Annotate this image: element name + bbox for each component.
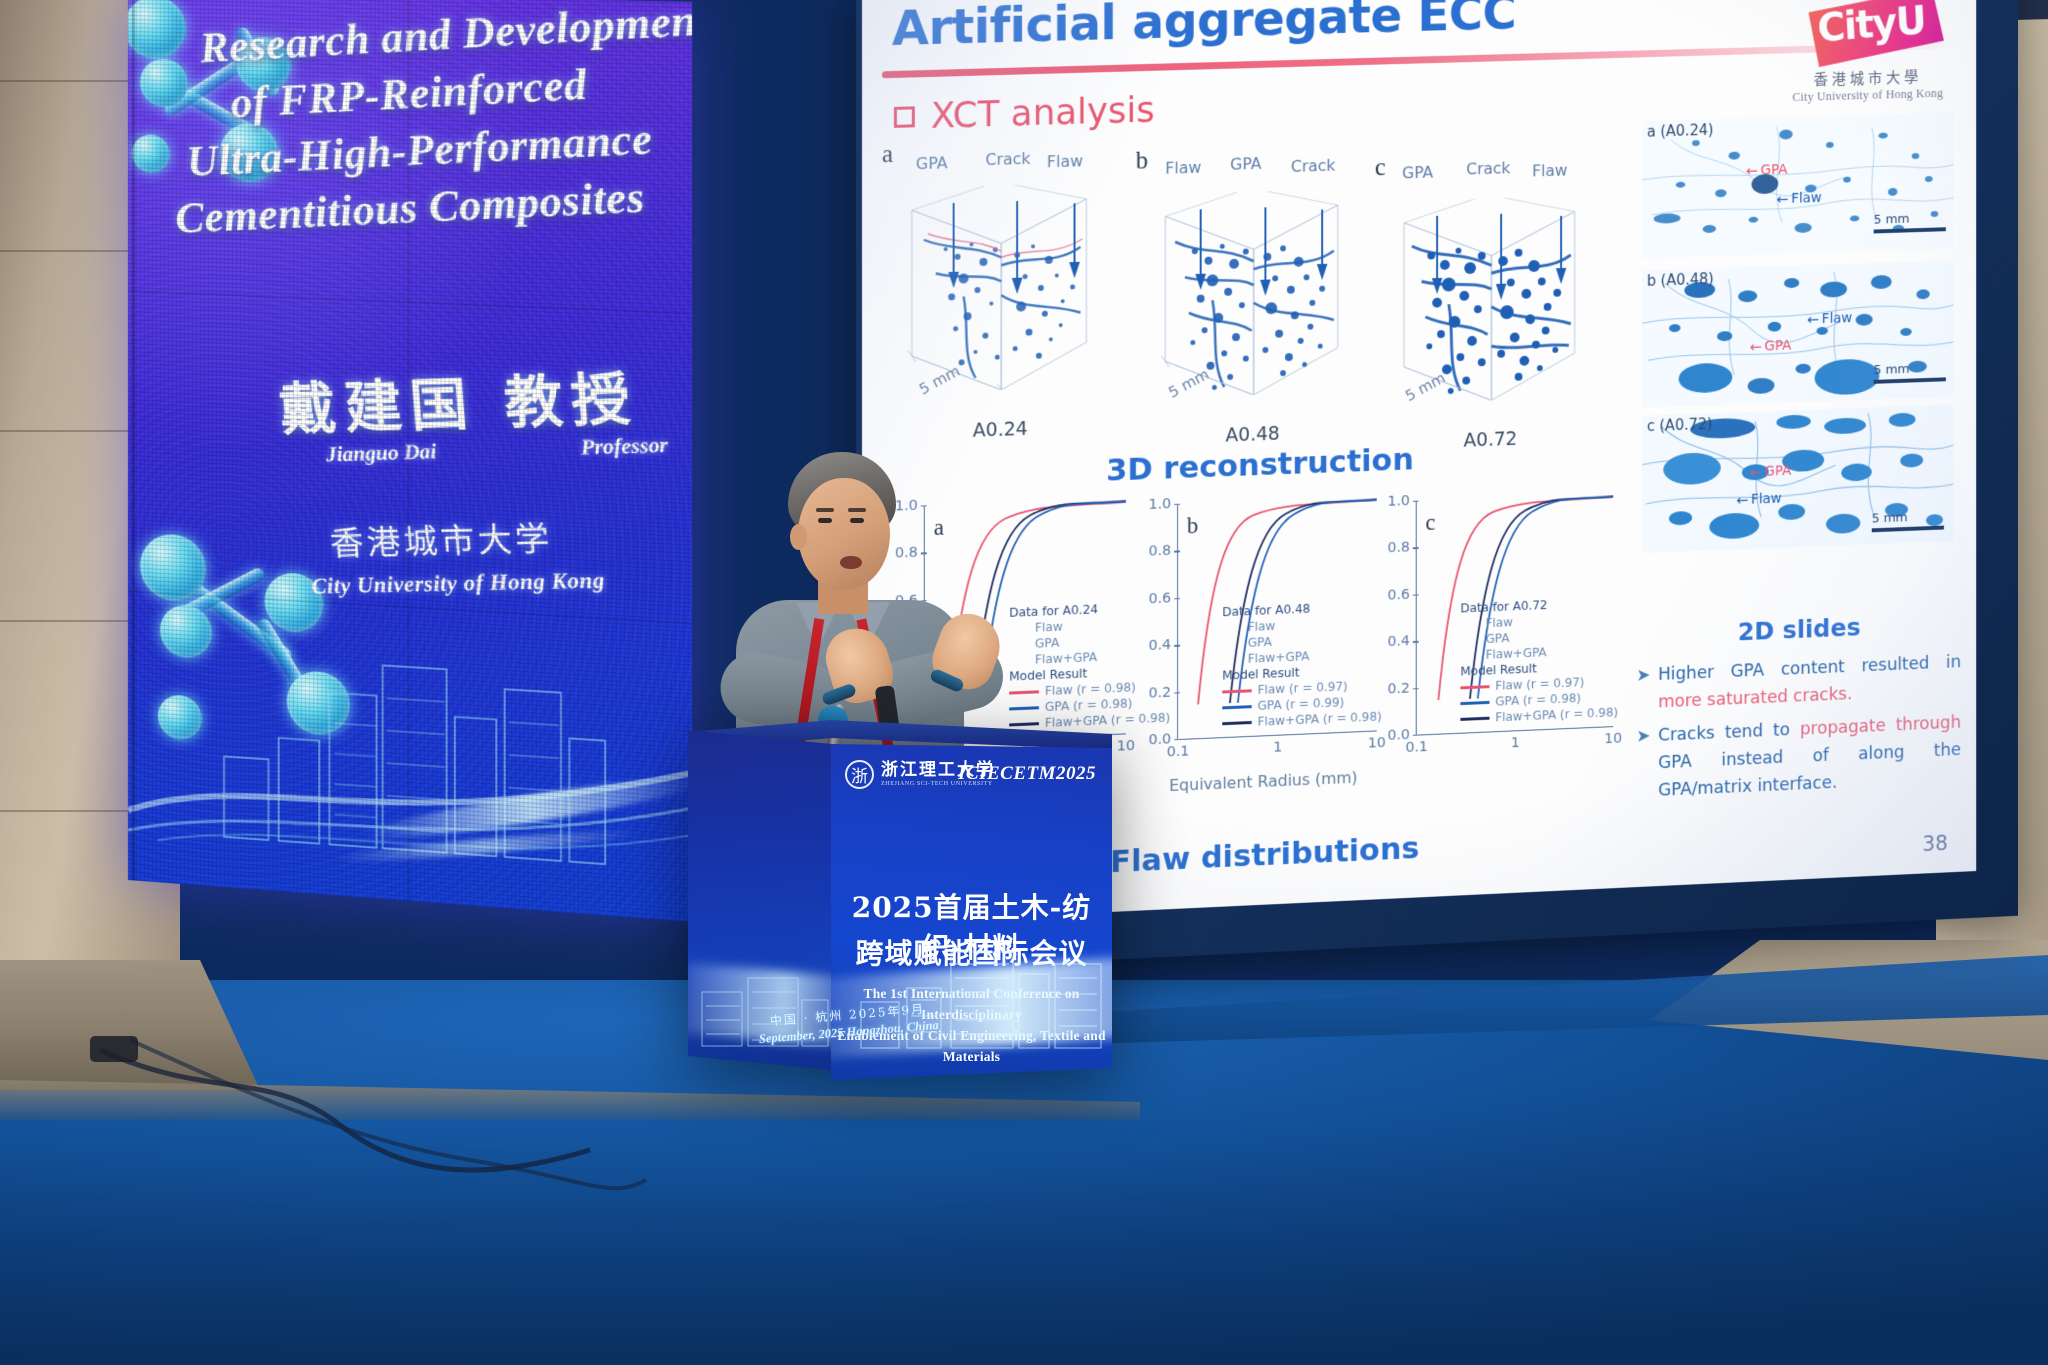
recon-b-label-crack: Crack (1291, 156, 1336, 176)
arrow-left-icon: ← (1807, 312, 1819, 327)
podium-conference-code: ICIECETM2025 (958, 763, 1096, 785)
chart-a-xtick-10: 10 (1117, 738, 1135, 755)
chart-c-ytick-0.2: 0.2 (1387, 680, 1409, 697)
slice-a-scale-text: 5 mm (1874, 212, 1910, 228)
chart-b-legend: Data for A0.48 Flaw GPA Flaw+GPA Model R… (1222, 599, 1381, 732)
recon-c-volume (1398, 196, 1580, 404)
slice-panel-c: c (A0.72) ← GPA ← Flaw 5 mm (1642, 404, 1953, 553)
recon-b-label-flaw: Flaw (1165, 158, 1201, 178)
slice-a-annotation-gpa: ← GPA (1746, 162, 1788, 179)
recon-c-label-flaw: Flaw (1532, 161, 1567, 181)
bullet-1-pre: Higher GPA content resulted in (1658, 653, 1961, 685)
speaker-ear (790, 524, 807, 550)
bullet-2-text: Cracks tend to propagate through GPA ins… (1658, 709, 1961, 805)
chart-b-xtick-1: 1 (1273, 739, 1282, 755)
speaker-brow-left (816, 508, 834, 512)
square-bullet-icon (894, 106, 915, 128)
slice-c-scalebar: 5 mm (1872, 509, 1944, 532)
recon-a-label-flaw: Flaw (1047, 151, 1083, 171)
chart-c-legend: Data for A0.72 Flaw GPA Flaw+GPA Model R… (1460, 595, 1618, 727)
chart-panel-b: 1.0 0.8 0.6 0.4 0.2 0.0 0.1 1 10 (1138, 488, 1383, 785)
chart-b-panel-letter: b (1187, 513, 1198, 539)
slide-page-number: 38 (1922, 831, 1947, 856)
arrow-left-icon: ← (1750, 465, 1762, 480)
banner-affiliation-cn: 香港城市大学 (328, 511, 554, 565)
two-d-slides-heading: 2D slides (1636, 609, 1961, 651)
photo-scene: Research and Development of FRP-Reinforc… (0, 0, 2048, 1365)
slice-panel-b: b (A0.48) ← Flaw ← GPA 5 mm (1642, 260, 1953, 408)
recon-a-volume (906, 183, 1092, 393)
slice-c-scale-text: 5 mm (1872, 510, 1908, 526)
slice-b-scalebar: 5 mm (1874, 361, 1946, 384)
university-seal-icon: 浙 (845, 760, 874, 789)
banner-speaker-role-en: Professor (580, 432, 669, 460)
chart-b-ytick-0.8: 0.8 (1148, 543, 1171, 560)
bullet-2-pre: Cracks tend to (1658, 720, 1800, 746)
arrow-left-icon: ← (1746, 163, 1758, 178)
recon-a-case: A0.24 (882, 415, 1118, 445)
recon-b-volume (1159, 189, 1343, 398)
chart-b-ytick-0.6: 0.6 (1148, 590, 1171, 607)
chart-c-xtick-0.1: 0.1 (1405, 739, 1427, 756)
banner-title: Research and Development of FRP-Reinforc… (154, 0, 692, 248)
chart-c-ytick-0.4: 0.4 (1387, 633, 1409, 650)
arrow-left-icon: ← (1776, 192, 1788, 207)
slice-b-annotation-flaw: ← Flaw (1807, 310, 1852, 327)
speaker-eye-left (818, 518, 832, 523)
recon-c-label-gpa: GPA (1402, 163, 1433, 183)
chart-b-ytick-0.2: 0.2 (1148, 684, 1171, 701)
banner-speaker-name-en: Jianguo Dai (325, 439, 437, 467)
bullet-1-text: Higher GPA content resulted in more satu… (1658, 649, 1961, 717)
chart-c-xtick-10: 10 (1604, 731, 1622, 747)
recon-panel-c-letter: c (1375, 154, 1386, 182)
bullet-1-highlight: more saturated cracks. (1658, 684, 1852, 712)
banner-affiliation-en: City University of Hong Kong (311, 567, 606, 599)
slice-b-annotation-gpa: ← GPA (1750, 338, 1792, 355)
bullet-2-post: GPA instead of along the GPA/matrix inte… (1658, 740, 1961, 800)
slice-a-flaw-text: Flaw (1791, 190, 1822, 207)
chart-b-ytick-0.4: 0.4 (1148, 637, 1171, 654)
flaw-distributions-heading: Flaw distributions (1110, 830, 1419, 880)
slice-a-label: a (A0.24) (1647, 121, 1714, 141)
slice-a-annotation-flaw: ← Flaw (1776, 190, 1821, 207)
xct-analysis-heading: XCT analysis (894, 90, 1155, 138)
speaker-eye-right (850, 518, 864, 523)
recon-panel-b-letter: b (1136, 147, 1148, 175)
led-banner: Research and Development of FRP-Reinforc… (128, 0, 692, 922)
bullet-2-highlight: propagate through (1800, 713, 1961, 740)
recon-c-label-crack: Crack (1466, 158, 1510, 178)
recon-b-label-gpa: GPA (1230, 154, 1261, 174)
arrow-left-icon: ← (1736, 493, 1748, 508)
bullet-marker-icon: ➤ (1636, 723, 1650, 806)
speaker-brow-right (848, 508, 866, 512)
slice-c-label: c (A0.72) (1647, 415, 1713, 435)
slice-c-annotation-flaw: ← Flaw (1736, 491, 1782, 508)
cityu-wordmark-text: CityU (1817, 0, 1927, 51)
cityu-logo: CityU 香港城市大學 City University of Hong Kon… (1792, 0, 1944, 105)
chart-panel-c: 1.0 0.8 0.6 0.4 0.2 0.0 0.1 1 10 (1377, 485, 1619, 781)
cityu-name-en: City University of Hong Kong (1792, 86, 1944, 105)
chart-c-ytick-0.8: 0.8 (1387, 540, 1409, 557)
chart-b-ytick-1.0: 1.0 (1148, 496, 1171, 513)
bullet-1: ➤ Higher GPA content resulted in more sa… (1636, 649, 1961, 718)
bullet-marker-icon: ➤ (1636, 662, 1650, 718)
recon-a-label-gpa: GPA (916, 153, 948, 173)
xct-analysis-label: XCT analysis (931, 90, 1155, 137)
recon-panel-a: a GPA Crack Flaw (882, 134, 1118, 441)
chart-b-xtick-0.1: 0.1 (1167, 744, 1190, 761)
recon-panel-c: c GPA Crack Flaw (1375, 148, 1606, 451)
reconstruction-panels: a GPA Crack Flaw (882, 119, 1636, 481)
podium: 浙 浙江理工大学 ZHEJIANG SCI-TECH UNIVERSITY IC… (688, 712, 1112, 1080)
slice-c-gpa-text: GPA (1764, 463, 1791, 480)
arrow-left-icon: ← (1750, 339, 1762, 354)
chart-c-xtick-1: 1 (1511, 735, 1520, 751)
slice-c-annotation-gpa: ← GPA (1750, 463, 1792, 480)
chart-c-panel-letter: c (1425, 510, 1435, 536)
slice-a-scalebar: 5 mm (1874, 211, 1946, 234)
slide-title: Artificial aggregate ECC (892, 0, 1516, 57)
slice-b-label: b (A0.48) (1647, 270, 1714, 290)
slice-b-gpa-text: GPA (1764, 338, 1791, 355)
slice-b-flaw-text: Flaw (1822, 310, 1852, 327)
speaker-head (798, 478, 890, 590)
chart-c-ytick-1.0: 1.0 (1387, 493, 1409, 510)
recon-a-label-crack: Crack (985, 149, 1030, 169)
cityu-wordmark-shape: CityU (1792, 0, 1944, 68)
slice-panel-a: a (A0.24) ← GPA ← Flaw 5 mm (1642, 112, 1953, 259)
speaker-mouth (840, 556, 862, 569)
recon-panel-b: b Flaw GPA Crack (1136, 141, 1369, 446)
two-d-slides-panels: a (A0.24) ← GPA ← Flaw 5 mm (1642, 112, 1957, 583)
slide-bullets-block: 2D slides ➤ Higher GPA content resulted … (1636, 609, 1961, 812)
slice-b-scale-text: 5 mm (1874, 362, 1910, 378)
slice-a-gpa-text: GPA (1761, 162, 1788, 178)
recon-panel-a-letter: a (882, 141, 893, 169)
banner-speaker-name-cn: 戴建国 教授 (276, 353, 641, 447)
slice-c-flaw-text: Flaw (1751, 491, 1782, 508)
bullet-2: ➤ Cracks tend to propagate through GPA i… (1636, 709, 1961, 806)
chart-c-ytick-0.6: 0.6 (1387, 587, 1409, 604)
